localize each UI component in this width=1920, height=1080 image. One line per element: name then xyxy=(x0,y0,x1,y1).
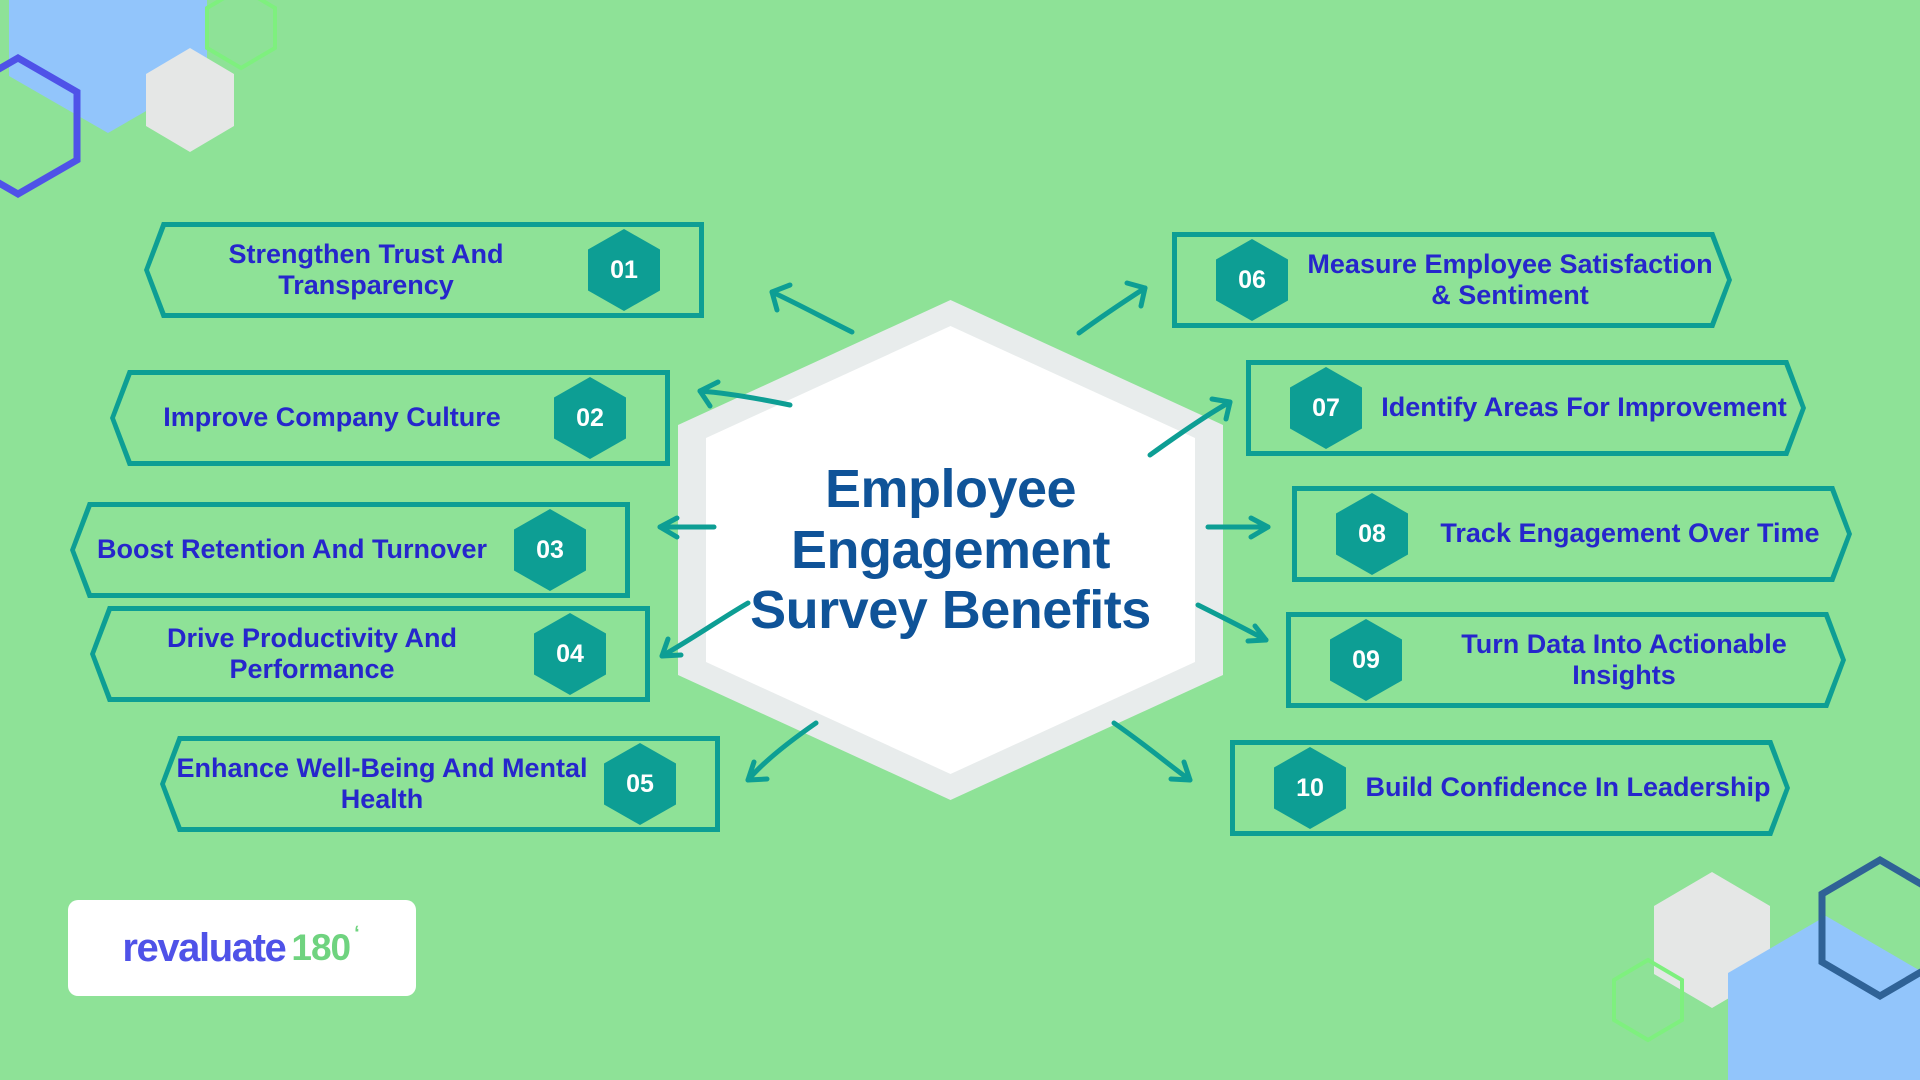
benefit-number-09: 09 xyxy=(1330,619,1402,701)
benefit-label-01: Strengthen Trust And Transparency xyxy=(144,239,588,301)
hex-gray-filled-tl xyxy=(146,48,234,152)
benefit-label-08: Track Engagement Over Time xyxy=(1408,518,1852,549)
benefit-label-09: Turn Data Into Actionable Insights xyxy=(1402,629,1846,691)
benefit-label-06: Measure Employee Satisfaction & Sentimen… xyxy=(1288,249,1732,311)
benefit-number-03: 03 xyxy=(514,509,586,591)
benefit-number-01: 01 xyxy=(588,229,660,311)
benefit-number-02: 02 xyxy=(554,377,626,459)
benefit-item-06[interactable]: 06 Measure Employee Satisfaction & Senti… xyxy=(1172,232,1732,328)
hex-outline-green-br xyxy=(1614,960,1682,1040)
benefit-label-04: Drive Productivity And Performance xyxy=(90,623,534,685)
benefit-label-07: Identify Areas For Improvement xyxy=(1362,392,1806,423)
benefit-label-10: Build Confidence In Leadership xyxy=(1346,772,1790,803)
logo-degree-mark: ʻ xyxy=(354,923,360,946)
arrow-head-08 xyxy=(1251,518,1268,537)
hex-outline-green-tl xyxy=(207,0,275,68)
decorative-hexagons-top-left xyxy=(0,0,300,200)
benefit-label-02: Improve Company Culture xyxy=(110,402,554,433)
benefit-number-08: 08 xyxy=(1336,493,1408,575)
benefit-item-05[interactable]: Enhance Well-Being And Mental Health 05 xyxy=(160,736,720,832)
hex-outline-navy-br xyxy=(1822,860,1920,996)
benefit-number-07: 07 xyxy=(1290,367,1362,449)
benefit-item-02[interactable]: Improve Company Culture 02 xyxy=(110,370,670,466)
arrow-head-03 xyxy=(660,518,677,537)
infographic-canvas: Employee Engagement Survey Benefits xyxy=(0,0,1920,1080)
benefit-label-03: Boost Retention And Turnover xyxy=(70,534,514,565)
hex-gray-filled-br xyxy=(1654,872,1770,1008)
benefit-number-05: 05 xyxy=(604,743,676,825)
brand-logo[interactable]: revaluate 180 ʻ xyxy=(68,900,416,996)
hex-blue-filled-tl xyxy=(9,0,207,133)
arrow-head-09 xyxy=(1248,626,1266,641)
hex-blue-filled-br xyxy=(1728,916,1920,1080)
decorative-hexagons-bottom-right xyxy=(1590,840,1920,1080)
benefit-item-04[interactable]: Drive Productivity And Performance 04 xyxy=(90,606,650,702)
benefit-item-03[interactable]: Boost Retention And Turnover 03 xyxy=(70,502,630,598)
benefit-number-06: 06 xyxy=(1216,239,1288,321)
benefit-item-01[interactable]: Strengthen Trust And Transparency 01 xyxy=(144,222,704,318)
benefit-number-04: 04 xyxy=(534,613,606,695)
logo-suffix: 180 xyxy=(291,927,350,969)
center-hexagon: Employee Engagement Survey Benefits xyxy=(678,300,1223,800)
benefit-item-08[interactable]: 08 Track Engagement Over Time xyxy=(1292,486,1852,582)
benefit-item-10[interactable]: 10 Build Confidence In Leadership xyxy=(1230,740,1790,836)
benefit-number-10: 10 xyxy=(1274,747,1346,829)
benefit-label-05: Enhance Well-Being And Mental Health xyxy=(160,753,604,815)
hex-outline-indigo-tl xyxy=(0,58,77,194)
benefit-item-09[interactable]: 09 Turn Data Into Actionable Insights xyxy=(1286,612,1846,708)
logo-wordmark: revaluate xyxy=(122,926,285,971)
benefit-item-07[interactable]: 07 Identify Areas For Improvement xyxy=(1246,360,1806,456)
center-title: Employee Engagement Survey Benefits xyxy=(678,300,1223,800)
